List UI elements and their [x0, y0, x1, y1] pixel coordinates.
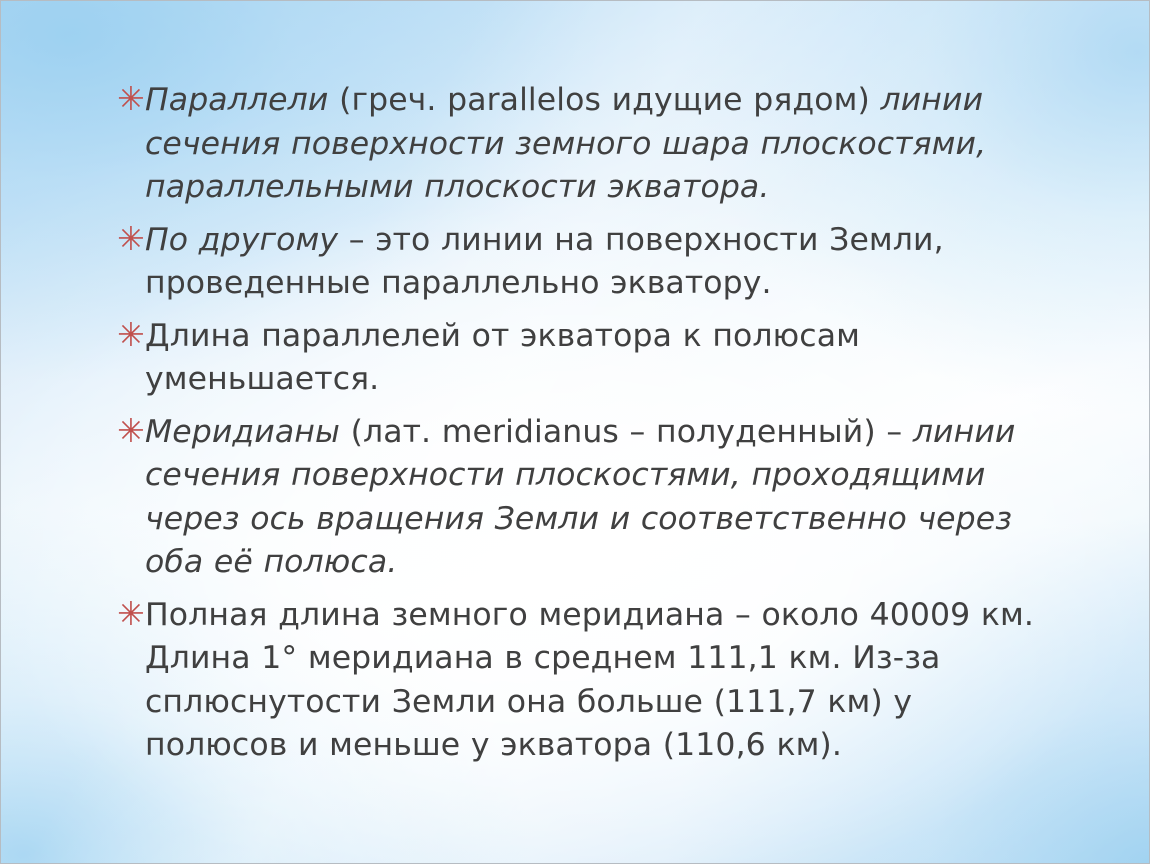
bullet-text-parallels-length: Длина параллелей от экватора к полюсам у…: [145, 318, 860, 398]
asterisk-bullet-icon: ✳: [117, 411, 141, 451]
bullet-segment-normal: (греч. parallelos идущие рядом): [328, 82, 880, 118]
bullet-text-meridian-measurements: Полная длина земного меридиана – около 4…: [145, 597, 1034, 764]
bullet-item-parallels-length: ✳ Длина параллелей от экватора к полюсам…: [113, 315, 1043, 402]
bullet-item-parallels-definition: ✳ Параллели (греч. parallelos идущие ряд…: [113, 79, 1043, 210]
bullet-segment-italic: По другому: [145, 222, 338, 258]
bullet-segment-normal: (лат. meridianus – полуденный) –: [340, 414, 913, 450]
asterisk-bullet-icon: ✳: [117, 79, 141, 119]
bullet-text-meridians-definition: Меридианы (лат. meridianus – полуденный)…: [145, 414, 1015, 581]
bullet-text-parallels-alternative: По другому – это линии на поверхности Зе…: [145, 222, 944, 302]
bullet-item-parallels-alternative: ✳ По другому – это линии на поверхности …: [113, 219, 1043, 306]
bullet-segment-italic: Меридианы: [145, 414, 340, 450]
slide-body-text: ✳ Параллели (греч. parallelos идущие ряд…: [113, 79, 1043, 768]
bullet-item-meridian-measurements: ✳ Полная длина земного меридиана – около…: [113, 594, 1043, 768]
asterisk-bullet-icon: ✳: [117, 315, 141, 355]
presentation-slide: ✳ Параллели (греч. parallelos идущие ряд…: [0, 0, 1150, 864]
bullet-segment-normal: Полная длина земного меридиана – около 4…: [145, 597, 1034, 764]
asterisk-bullet-icon: ✳: [117, 594, 141, 634]
bullet-text-parallels-definition: Параллели (греч. parallelos идущие рядом…: [145, 82, 986, 205]
bullet-segment-italic: Параллели: [145, 82, 328, 118]
asterisk-bullet-icon: ✳: [117, 219, 141, 259]
bullet-segment-normal: Длина параллелей от экватора к полюсам у…: [145, 318, 860, 398]
bullet-item-meridians-definition: ✳ Меридианы (лат. meridianus – полуденны…: [113, 411, 1043, 585]
